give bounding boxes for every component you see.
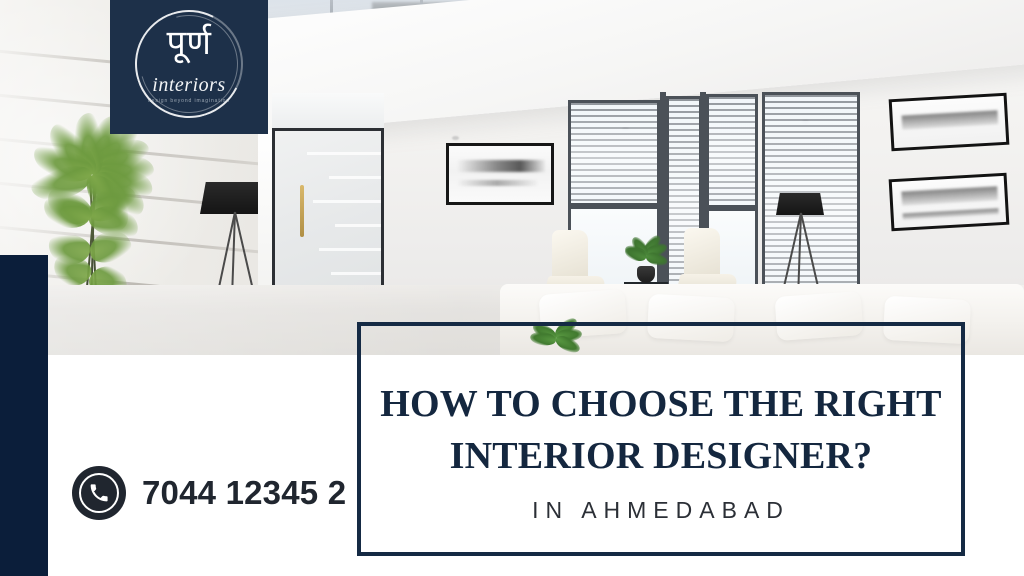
- headline-line-1: HOW TO CHOOSE THE RIGHT: [361, 378, 961, 430]
- phone-number[interactable]: 7044 12345 2: [142, 474, 346, 512]
- logo-brush-ring-inner-icon: [122, 0, 256, 131]
- left-accent-bar: [0, 255, 48, 576]
- framed-wall-art-center: [446, 143, 554, 205]
- window-blinds-center2: [706, 94, 758, 208]
- downlight: [452, 136, 459, 140]
- logo-devanagari-text: पूर्ण: [126, 26, 252, 60]
- headline-line-2: INTERIOR DESIGNER?: [361, 430, 961, 482]
- logo-wordmark: interiors: [126, 74, 252, 97]
- framed-wall-art-upper-right: [889, 93, 1010, 152]
- headline-stack: HOW TO CHOOSE THE RIGHT INTERIOR DESIGNE…: [361, 378, 961, 524]
- headline-box: HOW TO CHOOSE THE RIGHT INTERIOR DESIGNE…: [357, 322, 965, 556]
- framed-wall-art-lower-right: [889, 173, 1010, 232]
- headline-subtitle: IN AHMEDABAD: [361, 497, 961, 524]
- contact-row[interactable]: 7044 12345 2: [72, 466, 346, 520]
- phone-icon-ring: [79, 473, 119, 513]
- logo-tagline: design beyond imagination: [126, 98, 252, 104]
- logo-badge[interactable]: पूर्ण interiors design beyond imaginatio…: [110, 0, 268, 134]
- logo-inner: पूर्ण interiors design beyond imaginatio…: [126, 8, 252, 126]
- window-mullion: [660, 92, 666, 306]
- poster-canvas: पूर्ण interiors design beyond imaginatio…: [0, 0, 1024, 576]
- window-blinds-left: [568, 100, 660, 206]
- phone-icon[interactable]: [72, 466, 126, 520]
